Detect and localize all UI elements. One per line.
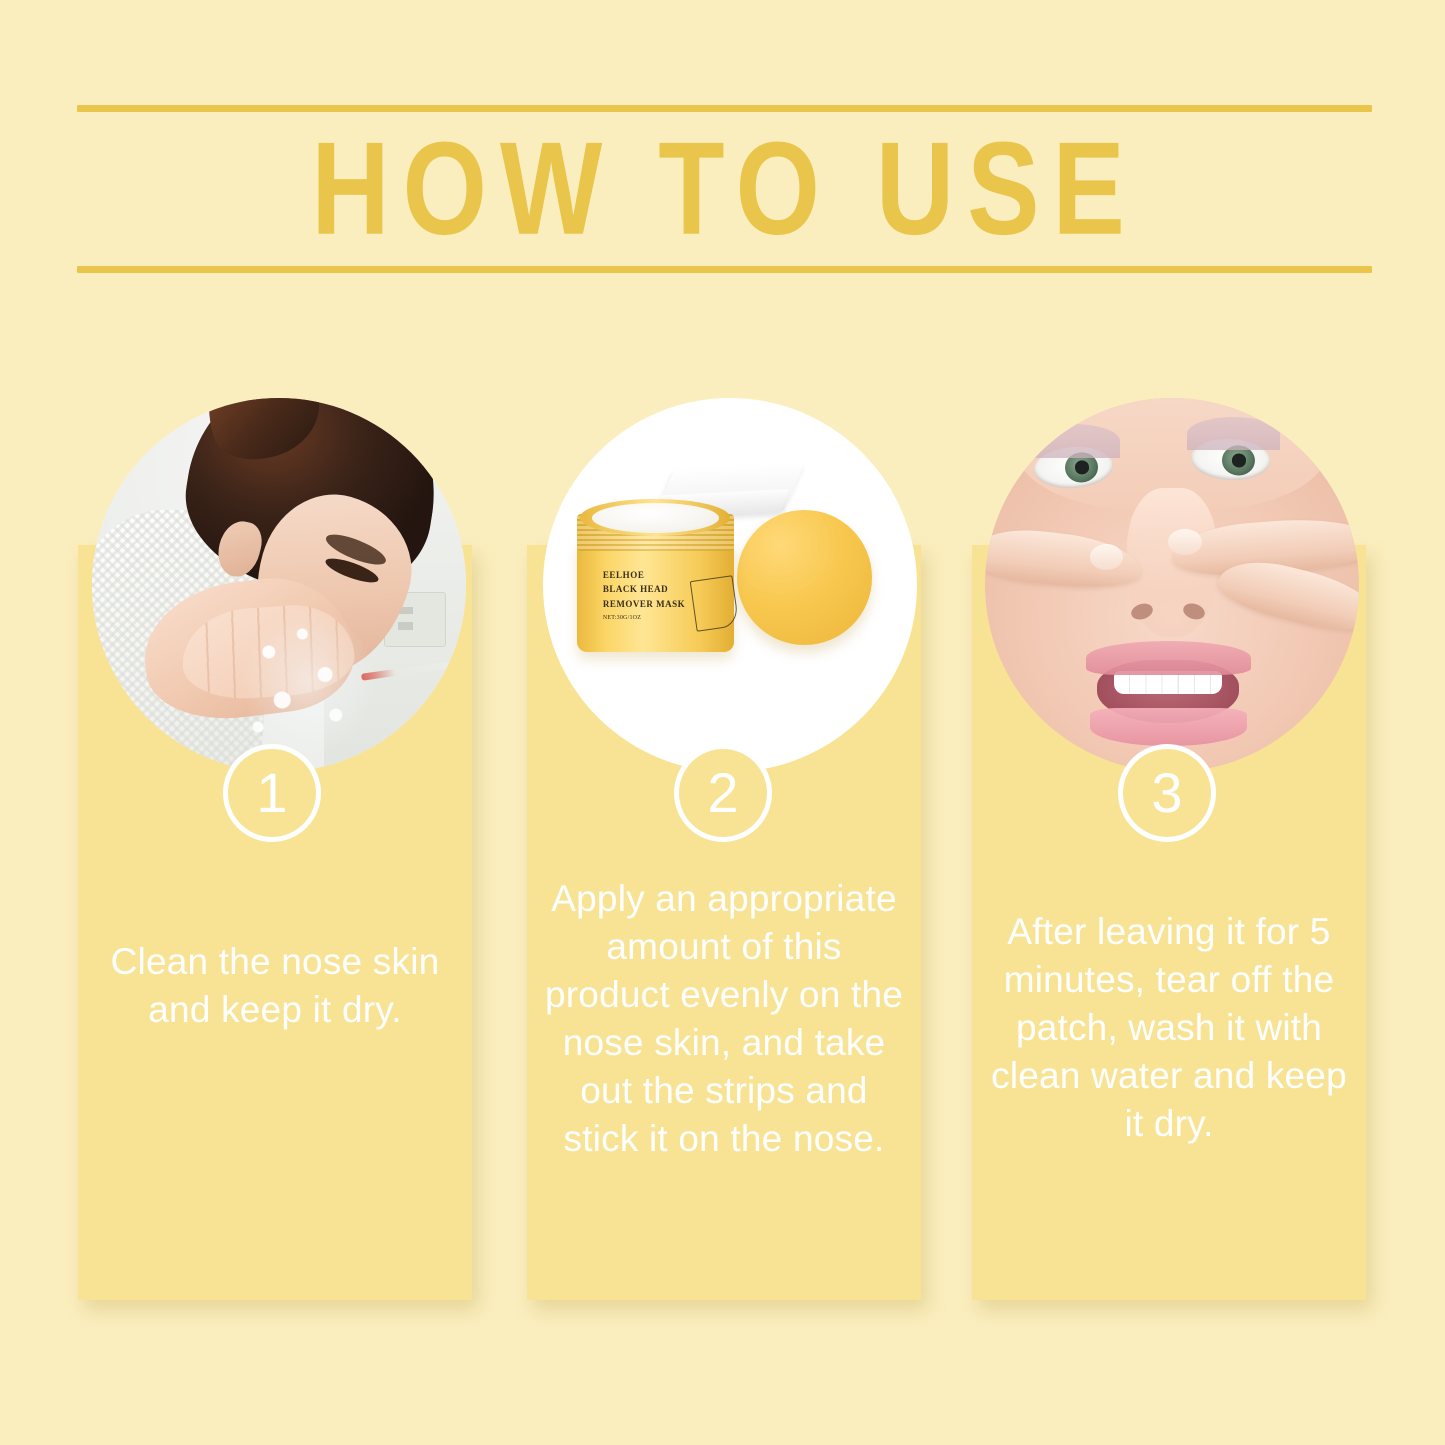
step-badge-2: 2 — [674, 744, 772, 842]
eyelid-right — [1187, 417, 1281, 451]
step-caption-1: Clean the nose skin and keep it dry. — [96, 938, 454, 1034]
eyelid-left — [1026, 424, 1120, 458]
fingernail-right — [1168, 529, 1202, 555]
jar-cream — [592, 503, 719, 533]
step-badge-3: 3 — [1118, 744, 1216, 842]
product-brand: EELHOE — [603, 570, 715, 580]
upper-lip — [1086, 641, 1251, 675]
step-photo-3 — [985, 398, 1359, 772]
step-caption-2: Apply an appropriate amount of this prod… — [545, 875, 903, 1164]
fingernail-left — [1090, 544, 1124, 570]
steps-container: Clean the nose skin and keep it dry. 1 A… — [0, 0, 1445, 1445]
nose-illustration-icon — [689, 575, 739, 631]
step-photo-1 — [92, 398, 466, 772]
step-caption-3: After leaving it for 5 minutes, tear off… — [990, 908, 1348, 1148]
water-splash — [242, 607, 377, 757]
step-badge-1: 1 — [223, 744, 321, 842]
step-photo-2: EELHOE BLACK HEAD REMOVER MASK NET:30G/1… — [543, 398, 917, 772]
jar-lid — [737, 510, 872, 645]
lower-lip — [1090, 708, 1247, 745]
